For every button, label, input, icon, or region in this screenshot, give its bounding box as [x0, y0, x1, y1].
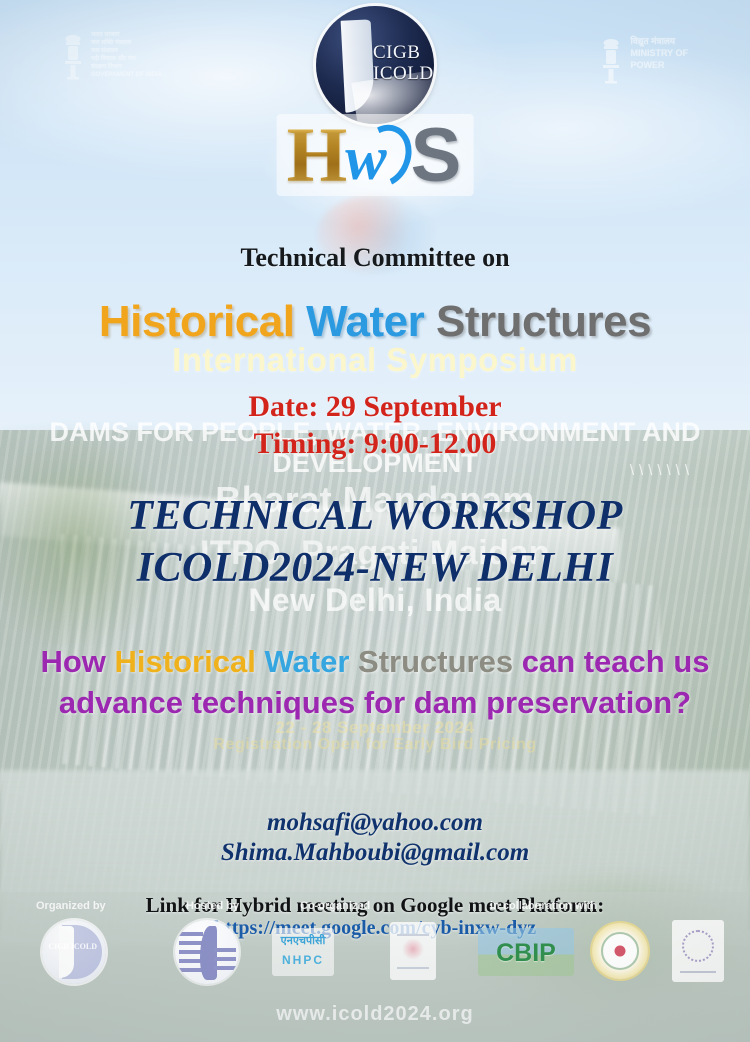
label-organized-by: Organized by — [36, 900, 106, 912]
title-word-historical: Historical — [99, 297, 295, 346]
ministry-line-1: MINISTRY OF — [630, 48, 688, 59]
gov-left-text-lines: भारत सरकार जल शक्ति मंत्रालय जल संसाधन न… — [91, 32, 162, 79]
hws-letter-h: H — [287, 116, 348, 194]
bg-text-tick-marks: \\\\\\\ — [630, 462, 694, 479]
cigb-icold-text: CIGB ICOLD — [373, 42, 434, 84]
partner-logo-generic-2 — [592, 923, 648, 979]
crest-base-line — [680, 971, 716, 973]
question-highlight-historical: Historical — [115, 644, 256, 679]
crest-emblem — [402, 938, 424, 960]
cigb-label: CIGB — [373, 42, 434, 63]
label-collaboration: in collaboration with — [490, 900, 597, 912]
partner-logo-generic-1 — [390, 922, 436, 980]
contact-emails: mohsafi@yahoo.com Shima.Mahboubi@gmail.c… — [0, 808, 750, 868]
workshop-line-1: TECHNICAL WORKSHOP — [0, 490, 750, 542]
gov-left-line-6: GOVERNMENT OF INDIA — [91, 72, 162, 79]
gov-left-line-1: भारत सरकार — [91, 32, 162, 39]
question-highlight-water: Water — [264, 644, 349, 679]
cbip-label: CBIP — [478, 939, 574, 968]
label-co-organized: Co-organized — [300, 900, 370, 912]
workshop-line-2: ICOLD2024-NEW DELHI — [0, 542, 750, 594]
partner-logo-icold: CIGB ICOLD — [42, 920, 106, 984]
contact-email-2[interactable]: Shima.Mahboubi@gmail.com — [0, 838, 750, 868]
ministry-hindi-label: विद्युत मंत्रालय — [630, 36, 688, 47]
conference-poster: International Symposium DAMS FOR PEOPLE,… — [0, 0, 750, 1042]
crest-line-bottom — [397, 967, 429, 969]
nhpc-hindi-label: एनएचपीसी — [272, 933, 334, 948]
ministry-of-power-block: विद्युत मंत्रालय MINISTRY OF POWER — [600, 36, 688, 88]
partner-logo-host-dam — [175, 920, 239, 984]
icold-label: ICOLD — [373, 63, 434, 84]
ashoka-emblem-icon — [600, 36, 622, 88]
theme-question: How Historical Water Structures can teac… — [34, 641, 716, 723]
partner-logo-strip: Organized by Hosted by Co-organized in c… — [0, 898, 750, 998]
question-highlight-structures: Structures — [358, 644, 513, 679]
question-sep-2 — [349, 644, 358, 679]
ministry-of-power-text-lines: विद्युत मंत्रालय MINISTRY OF POWER — [630, 36, 688, 71]
question-part-1: How — [40, 644, 114, 679]
ministry-line-2: POWER — [630, 60, 688, 71]
schedule-block: Date: 29 September Timing: 9:00-12.00 — [0, 388, 750, 462]
cigb-icold-logo: CIGB ICOLD — [316, 6, 434, 124]
nhpc-label: NHPC — [272, 953, 334, 967]
gov-left-line-4: नदी विकास और गंगा — [91, 56, 162, 63]
crest-ring — [682, 930, 714, 962]
crest-line-top — [397, 934, 429, 936]
government-of-india-left-block: भारत सरकार जल शक्ति मंत्रालय जल संसाधन न… — [62, 32, 162, 84]
hws-logo: H w S — [277, 114, 474, 196]
gov-left-line-5: संरक्षण विभाग — [91, 64, 162, 71]
hws-letter-s: S — [411, 118, 462, 194]
circ-core — [615, 946, 626, 957]
event-timing: Timing: 9:00-12.00 — [0, 425, 750, 462]
partner-logo-generic-3 — [672, 920, 724, 982]
event-date: Date: 29 September — [0, 388, 750, 425]
partner-logo-cbip: CBIP — [478, 928, 574, 976]
label-hosted-by: Hosted by — [186, 900, 239, 912]
partner-logo-nhpc: एनएचपीसी NHPC — [272, 928, 334, 976]
dam-stripes-right — [214, 948, 236, 974]
gov-left-line-3: जल संसाधन — [91, 48, 162, 55]
gov-left-line-2: जल शक्ति मंत्रालय — [91, 40, 162, 47]
ashoka-emblem-icon — [62, 32, 84, 84]
hws-letter-w: w — [345, 128, 386, 190]
icold-mini-label: CIGB ICOLD — [48, 942, 97, 951]
committee-prefix: Technical Committee on — [0, 243, 750, 273]
workshop-heading: TECHNICAL WORKSHOP ICOLD2024-NEW DELHI — [0, 490, 750, 594]
page-title: Historical Water Structures — [0, 297, 750, 347]
contact-email-1[interactable]: mohsafi@yahoo.com — [0, 808, 750, 838]
title-word-water: Water — [306, 297, 424, 346]
title-word-structures: Structures — [436, 297, 651, 346]
